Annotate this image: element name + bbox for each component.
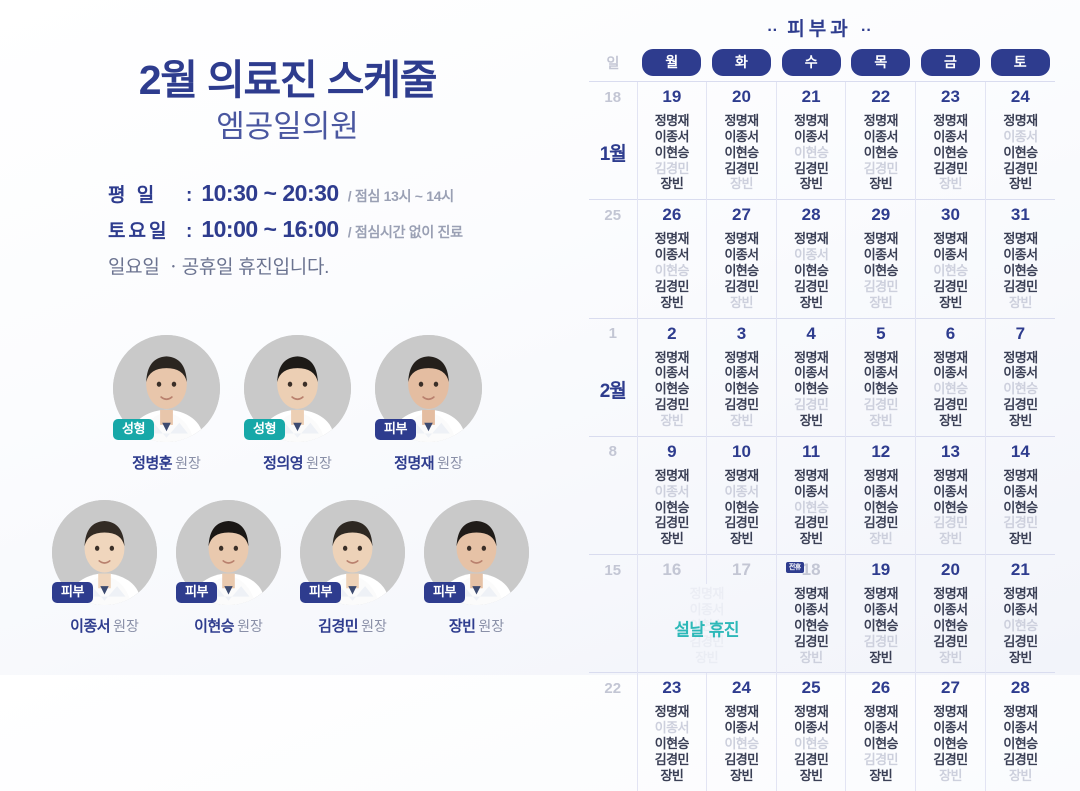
staff-name-on-duty: 이종서	[638, 247, 707, 263]
staff-name-on-duty: 정명재	[638, 231, 707, 247]
date-cell[interactable]: 19	[637, 82, 707, 112]
weekday-cell: 목	[846, 47, 916, 82]
date-cell[interactable]: 13	[916, 436, 986, 466]
calendar-date-row: 25262728293031	[589, 200, 1055, 230]
staff-name-on-duty: 이종서	[916, 720, 985, 736]
date-cell[interactable]: 24	[707, 673, 777, 703]
date-number: 30	[941, 205, 960, 224]
staff-name-off-duty: 장빈	[986, 295, 1055, 311]
date-cell[interactable]: 26	[846, 673, 916, 703]
staff-cell[interactable]: 정명재이종서이현승김경민장빈	[707, 229, 777, 318]
weekday-pill: 화	[712, 49, 771, 76]
calendar-staff-row: 정명재이종서이현승김경민장빈설날 휴진정명재이종서이현승김경민장빈정명재이종서이…	[589, 584, 1055, 673]
staff-name-off-duty: 이현승	[777, 145, 846, 161]
staff-name-off-duty: 장빈	[638, 413, 707, 429]
staff-cell[interactable]: 정명재이종서이현승김경민장빈	[707, 348, 777, 437]
staff-name-on-duty: 김경민	[916, 397, 985, 413]
doctor-name: 이현승원장	[176, 615, 281, 636]
date-number: 6	[946, 324, 955, 343]
staff-name-list: 정명재이종서이현승김경민장빈	[777, 704, 846, 783]
staff-name-on-duty: 장빈	[638, 295, 707, 311]
date-cell[interactable]: 29	[846, 200, 916, 230]
staff-cell[interactable]: 정명재이종서이현승김경민장빈	[776, 702, 846, 790]
staff-name-list: 정명재이종서이현승김경민장빈	[707, 468, 776, 547]
date-cell[interactable]: 31	[985, 200, 1055, 230]
doctor-title: 원장	[437, 455, 463, 471]
hours-row-saturday: 토요일 : 10:00 ~ 16:00 / 점심시간 없이 진료	[108, 216, 575, 243]
date-number: 28	[802, 205, 821, 224]
staff-name-on-duty: 장빈	[707, 768, 776, 784]
info-panel: 2월 의료진 스케줄 엠공일의원 평 일 : 10:30 ~ 20:30 / 점…	[0, 0, 575, 675]
staff-name-off-duty: 이현승	[916, 263, 985, 279]
doctor-card[interactable]: 피부김경민원장	[300, 500, 405, 636]
staff-name-off-duty: 김경민	[846, 634, 915, 650]
staff-name-list: 정명재이종서이현승김경민장빈	[777, 113, 846, 192]
staff-name-off-duty: 이종서	[638, 720, 707, 736]
holiday-cell[interactable]: 정명재이종서이현승김경민장빈설날 휴진	[637, 584, 776, 673]
staff-name-off-duty: 이현승	[986, 381, 1055, 397]
staff-name-on-duty: 이현승	[846, 145, 915, 161]
staff-name-on-duty: 정명재	[986, 586, 1055, 602]
weekday-cell: 수	[776, 47, 846, 82]
staff-name-on-duty: 장빈	[638, 531, 707, 547]
doctor-name: 장빈원장	[424, 615, 529, 636]
date-number: 12	[871, 442, 890, 461]
date-cell[interactable]: 30	[916, 200, 986, 230]
date-cell[interactable]: 19	[846, 555, 916, 585]
hours-row-weekday: 평 일 : 10:30 ~ 20:30 / 점심 13시 ~ 14시	[108, 180, 575, 207]
date-cell[interactable]: 24	[985, 82, 1055, 112]
weekday-time: 10:30 ~ 20:30	[201, 180, 338, 207]
doctor-card[interactable]: 피부정명재원장	[375, 335, 482, 473]
title-dots-right: ··	[861, 22, 872, 39]
staff-name-on-duty: 이종서	[986, 602, 1055, 618]
weekday-label: 평 일	[108, 180, 186, 207]
date-cell[interactable]: 22	[846, 82, 916, 112]
staff-name-on-duty: 정명재	[986, 350, 1055, 366]
staff-name-on-duty: 이현승	[638, 381, 707, 397]
staff-name-on-duty: 정명재	[638, 468, 707, 484]
date-cell[interactable]: 28	[776, 200, 846, 230]
date-number: 5	[876, 324, 885, 343]
staff-cell[interactable]: 정명재이종서이현승김경민장빈	[846, 584, 916, 673]
doctor-name-text: 장빈	[449, 618, 476, 635]
staff-cell[interactable]: 정명재이종서이현승김경민장빈	[776, 584, 846, 673]
doctor-name-text: 김경민	[318, 618, 358, 635]
staff-name-off-duty: 이현승	[707, 736, 776, 752]
avatar: 피부	[300, 500, 405, 605]
date-cell[interactable]: 11	[776, 436, 846, 466]
staff-name-on-duty: 김경민	[777, 161, 846, 177]
staff-name-on-duty: 장빈	[986, 531, 1055, 547]
date-cell[interactable]: 7	[985, 318, 1055, 348]
date-cell[interactable]: 전휴18	[776, 555, 846, 585]
specialty-badge: 피부	[424, 582, 465, 603]
staff-cell[interactable]: 정명재이종서이현승김경민장빈	[637, 702, 707, 790]
staff-name-list: 정명재이종서이현승김경민장빈	[846, 468, 915, 547]
staff-cell[interactable]: 정명재이종서이현승김경민장빈	[637, 111, 707, 200]
date-cell[interactable]: 3	[707, 318, 777, 348]
staff-name-on-duty: 이종서	[638, 365, 707, 381]
staff-name-on-duty: 정명재	[707, 704, 776, 720]
staff-cell[interactable]: 정명재이종서이현승김경민장빈	[846, 111, 916, 200]
doctor-card[interactable]: 성형정의영원장	[244, 335, 351, 473]
staff-name-on-duty: 정명재	[777, 704, 846, 720]
staff-cell[interactable]: 정명재이종서이현승김경민장빈	[916, 584, 986, 673]
staff-name-on-duty: 정명재	[916, 231, 985, 247]
staff-name-on-duty: 정명재	[777, 231, 846, 247]
staff-name-list: 정명재이종서이현승김경민장빈	[916, 113, 985, 192]
avatar: 성형	[113, 335, 220, 442]
staff-cell[interactable]: 정명재이종서이현승김경민장빈	[776, 229, 846, 318]
staff-name-on-duty: 정명재	[846, 586, 915, 602]
staff-name-on-duty: 김경민	[916, 161, 985, 177]
date-cell[interactable]: 23	[637, 673, 707, 703]
staff-name-off-duty: 김경민	[638, 161, 707, 177]
staff-cell[interactable]: 정명재이종서이현승김경민장빈	[707, 111, 777, 200]
staff-name-on-duty: 이현승	[638, 500, 707, 516]
staff-name-on-duty: 정명재	[846, 113, 915, 129]
date-cell[interactable]: 12	[846, 436, 916, 466]
date-number: 2	[667, 324, 676, 343]
date-number: 22	[871, 87, 890, 106]
staff-name-list: 정명재이종서이현승김경민장빈	[986, 586, 1055, 665]
date-cell-sunday: 22	[589, 673, 637, 703]
weekday-header-row: 일월화수목금토	[589, 47, 1055, 82]
page-title: 2월 의료진 스케줄	[0, 58, 575, 102]
staff-name-on-duty: 정명재	[986, 113, 1055, 129]
date-number: 24	[1011, 87, 1030, 106]
staff-cell[interactable]: 정명재이종서이현승김경민장빈	[916, 229, 986, 318]
staff-name-off-duty: 장빈	[916, 650, 985, 666]
staff-cell[interactable]: 정명재이종서이현승김경민장빈	[637, 348, 707, 437]
calendar-head: 일월화수목금토	[589, 47, 1055, 82]
staff-name-off-duty: 김경민	[916, 515, 985, 531]
date-cell[interactable]: 27	[916, 673, 986, 703]
date-cell-sunday: 8	[589, 436, 637, 466]
staff-name-on-duty: 장빈	[777, 531, 846, 547]
staff-name-off-duty: 김경민	[777, 397, 846, 413]
staff-name-on-duty: 이종서	[986, 365, 1055, 381]
staff-name-list: 정명재이종서이현승김경민장빈	[638, 350, 707, 429]
doctor-card[interactable]: 피부이현승원장	[176, 500, 281, 636]
staff-name-on-duty: 이현승	[846, 500, 915, 516]
date-cell[interactable]: 9	[637, 436, 707, 466]
staff-name-on-duty: 이현승	[986, 736, 1055, 752]
doctor-title: 원장	[175, 455, 201, 471]
date-cell[interactable]: 23	[916, 82, 986, 112]
weekday-pill: 월	[642, 49, 701, 76]
month-label-cell	[589, 702, 637, 790]
staff-name-list: 정명재이종서이현승김경민장빈	[638, 231, 707, 310]
staff-name-on-duty: 이현승	[707, 145, 776, 161]
doctor-title: 원장	[361, 618, 387, 634]
staff-name-on-duty: 이종서	[846, 484, 915, 500]
staff-cell[interactable]: 정명재이종서이현승김경민장빈	[846, 348, 916, 437]
weekday-lunch-note: / 점심 13시 ~ 14시	[348, 186, 454, 206]
date-number: 16	[662, 560, 681, 579]
staff-name-on-duty: 김경민	[777, 279, 846, 295]
staff-name-off-duty: 이현승	[916, 381, 985, 397]
date-cell-sunday: 25	[589, 200, 637, 230]
staff-name-on-duty: 정명재	[707, 113, 776, 129]
staff-name-on-duty: 김경민	[707, 397, 776, 413]
staff-name-list: 정명재이종서이현승김경민장빈	[916, 231, 985, 310]
staff-name-off-duty: 장빈	[916, 531, 985, 547]
doctor-card[interactable]: 피부장빈원장	[424, 500, 529, 636]
calendar-staff-row: 2월정명재이종서이현승김경민장빈정명재이종서이현승김경민장빈정명재이종서이현승김…	[589, 348, 1055, 437]
staff-name-on-duty: 김경민	[986, 161, 1055, 177]
date-number: 29	[871, 205, 890, 224]
doctor-name: 정의영원장	[244, 452, 351, 473]
date-number: 18	[802, 560, 821, 579]
staff-name-on-duty: 이종서	[638, 129, 707, 145]
staff-name-list: 정명재이종서이현승김경민장빈	[777, 586, 846, 665]
staff-name-on-duty: 김경민	[707, 161, 776, 177]
staff-cell[interactable]: 정명재이종서이현승김경민장빈	[985, 348, 1055, 437]
staff-name-off-duty: 장빈	[986, 768, 1055, 784]
weekday-pill: 수	[782, 49, 841, 76]
staff-name-off-duty: 장빈	[846, 531, 915, 547]
date-cell[interactable]: 25	[776, 673, 846, 703]
date-number: 21	[802, 87, 821, 106]
calendar-department: 피부과	[787, 19, 851, 40]
date-number: 28	[1011, 678, 1030, 697]
date-number: 26	[871, 678, 890, 697]
staff-cell[interactable]: 정명재이종서이현승김경민장빈	[846, 466, 916, 555]
staff-name-on-duty: 이종서	[846, 247, 915, 263]
doctor-title: 원장	[478, 618, 504, 634]
saturday-colon: :	[186, 221, 192, 243]
specialty-badge: 피부	[375, 419, 416, 440]
staff-name-on-duty: 장빈	[638, 768, 707, 784]
date-number: 25	[802, 678, 821, 697]
closed-note: 일요일 ㆍ공휴일 휴진입니다.	[108, 252, 329, 279]
weekday-cell: 화	[707, 47, 777, 82]
staff-name-list: 정명재이종서이현승김경민장빈	[638, 704, 707, 783]
date-cell[interactable]: 16	[637, 555, 707, 585]
staff-cell[interactable]: 정명재이종서이현승김경민장빈	[916, 702, 986, 790]
staff-name-on-duty: 정명재	[707, 468, 776, 484]
staff-cell[interactable]: 정명재이종서이현승김경민장빈	[776, 466, 846, 555]
staff-name-on-duty: 정명재	[916, 113, 985, 129]
staff-name-on-duty: 정명재	[916, 586, 985, 602]
staff-name-on-duty: 이현승	[916, 736, 985, 752]
staff-name-list: 정명재이종서이현승김경민장빈	[707, 231, 776, 310]
calendar-date-row: 22232425262728	[589, 673, 1055, 703]
staff-name-off-duty: 장빈	[707, 413, 776, 429]
date-cell[interactable]: 17	[707, 555, 777, 585]
doctor-name: 이종서원장	[52, 615, 157, 636]
closed-badge-icon: 전휴	[786, 562, 804, 573]
staff-cell[interactable]: 정명재이종서이현승김경민장빈	[707, 466, 777, 555]
staff-name-on-duty: 장빈	[777, 768, 846, 784]
weekday-pill: 목	[851, 49, 910, 76]
date-number: 19	[662, 87, 681, 106]
staff-cell[interactable]: 정명재이종서이현승김경민장빈	[637, 229, 707, 318]
staff-name-on-duty: 정명재	[846, 468, 915, 484]
staff-name-on-duty: 김경민	[707, 515, 776, 531]
weekday-pill: 금	[921, 49, 980, 76]
weekday-cell: 금	[916, 47, 986, 82]
staff-name-on-duty: 이현승	[707, 381, 776, 397]
staff-name-on-duty: 김경민	[777, 752, 846, 768]
date-cell[interactable]: 10	[707, 436, 777, 466]
date-number: 11	[802, 442, 820, 461]
avatar: 피부	[52, 500, 157, 605]
date-cell[interactable]: 14	[985, 436, 1055, 466]
staff-name-on-duty: 정명재	[707, 350, 776, 366]
staff-cell[interactable]: 정명재이종서이현승김경민장빈	[985, 111, 1055, 200]
doctor-name-text: 정명재	[394, 455, 434, 472]
staff-cell[interactable]: 정명재이종서이현승김경민장빈	[916, 111, 986, 200]
staff-cell[interactable]: 정명재이종서이현승김경민장빈	[776, 111, 846, 200]
saturday-label: 토요일	[108, 216, 186, 243]
staff-name-on-duty: 장빈	[777, 176, 846, 192]
staff-name-on-duty: 장빈	[916, 295, 985, 311]
date-cell[interactable]: 28	[985, 673, 1055, 703]
calendar-staff-row: 정명재이종서이현승김경민장빈정명재이종서이현승김경민장빈정명재이종서이현승김경민…	[589, 229, 1055, 318]
date-cell[interactable]: 5	[846, 318, 916, 348]
staff-name-on-duty: 정명재	[638, 350, 707, 366]
staff-name-on-duty: 김경민	[777, 634, 846, 650]
date-number: 27	[941, 678, 960, 697]
date-number: 26	[662, 205, 681, 224]
staff-name-on-duty: 정명재	[638, 704, 707, 720]
staff-name-off-duty: 김경민	[846, 752, 915, 768]
schedule-poster: 2월 의료진 스케줄 엠공일의원 평 일 : 10:30 ~ 20:30 / 점…	[0, 0, 1080, 675]
staff-name-list: 정명재이종서이현승김경민장빈	[986, 113, 1055, 192]
date-cell[interactable]: 20	[707, 82, 777, 112]
date-cell-sunday: 18	[589, 82, 637, 112]
date-number: 7	[1016, 324, 1025, 343]
staff-name-on-duty: 이종서	[846, 602, 915, 618]
specialty-badge: 성형	[113, 419, 154, 440]
staff-name-on-duty: 이현승	[777, 381, 846, 397]
staff-name-on-duty: 정명재	[777, 350, 846, 366]
date-cell[interactable]: 20	[916, 555, 986, 585]
staff-name-on-duty: 장빈	[986, 176, 1055, 192]
date-cell[interactable]: 21	[776, 82, 846, 112]
staff-name-on-duty: 이종서	[846, 365, 915, 381]
doctor-title: 원장	[113, 618, 139, 634]
staff-name-off-duty: 이종서	[707, 484, 776, 500]
doctor-name-text: 정병훈	[132, 455, 172, 472]
staff-name-on-duty: 장빈	[638, 176, 707, 192]
staff-name-on-duty: 김경민	[986, 634, 1055, 650]
date-cell[interactable]: 27	[707, 200, 777, 230]
staff-name-on-duty: 이현승	[986, 263, 1055, 279]
date-cell[interactable]: 21	[985, 555, 1055, 585]
weekday-colon: :	[186, 185, 192, 207]
staff-name-off-duty: 김경민	[846, 279, 915, 295]
calendar-date-row: 18192021222324	[589, 82, 1055, 112]
date-cell[interactable]: 26	[637, 200, 707, 230]
month-label-cell	[589, 584, 637, 673]
staff-name-on-duty: 이종서	[916, 129, 985, 145]
staff-name-list: 정명재이종서이현승김경민장빈	[846, 231, 915, 310]
staff-cell[interactable]: 정명재이종서이현승김경민장빈	[985, 466, 1055, 555]
staff-name-off-duty: 장빈	[846, 413, 915, 429]
staff-name-on-duty: 정명재	[916, 704, 985, 720]
saturday-time: 10:00 ~ 16:00	[201, 216, 338, 243]
staff-name-on-duty: 이현승	[707, 500, 776, 516]
staff-name-on-duty: 이현승	[707, 263, 776, 279]
staff-name-list: 정명재이종서이현승김경민장빈	[707, 113, 776, 192]
staff-cell[interactable]: 정명재이종서이현승김경민장빈	[707, 702, 777, 790]
date-number: 3	[737, 324, 746, 343]
calendar-date-row: 151617전휴18192021	[589, 555, 1055, 585]
doctor-card[interactable]: 피부이종서원장	[52, 500, 157, 636]
staff-cell[interactable]: 정명재이종서이현승김경민장빈	[916, 348, 986, 437]
staff-name-off-duty: 이현승	[777, 736, 846, 752]
staff-name-on-duty: 이종서	[986, 484, 1055, 500]
staff-name-on-duty: 이종서	[707, 720, 776, 736]
staff-cell[interactable]: 정명재이종서이현승김경민장빈	[985, 584, 1055, 673]
staff-cell[interactable]: 정명재이종서이현승김경민장빈	[985, 702, 1055, 790]
staff-name-off-duty: 장빈	[846, 295, 915, 311]
staff-name-list: 정명재이종서이현승김경민장빈	[916, 704, 985, 783]
title-block: 2월 의료진 스케줄 엠공일의원	[0, 0, 575, 148]
staff-name-list: 정명재이종서이현승김경민장빈	[638, 113, 707, 192]
hours-row-closed: 일요일 ㆍ공휴일 휴진입니다.	[108, 252, 575, 279]
staff-name-on-duty: 정명재	[846, 231, 915, 247]
staff-name-on-duty: 이현승	[916, 500, 985, 516]
staff-cell[interactable]: 정명재이종서이현승김경민장빈	[846, 229, 916, 318]
staff-name-list: 정명재이종서이현승김경민장빈	[986, 704, 1055, 783]
doctor-name: 김경민원장	[300, 615, 405, 636]
calendar-staff-row: 정명재이종서이현승김경민장빈정명재이종서이현승김경민장빈정명재이종서이현승김경민…	[589, 702, 1055, 790]
staff-cell[interactable]: 정명재이종서이현승김경민장빈	[916, 466, 986, 555]
doctor-card[interactable]: 성형정병훈원장	[113, 335, 220, 473]
date-number: 23	[941, 87, 960, 106]
date-cell[interactable]: 2	[637, 318, 707, 348]
staff-cell[interactable]: 정명재이종서이현승김경민장빈	[846, 702, 916, 790]
date-cell[interactable]: 6	[916, 318, 986, 348]
date-cell-sunday: 15	[589, 555, 637, 585]
staff-name-on-duty: 정명재	[846, 350, 915, 366]
staff-cell[interactable]: 정명재이종서이현승김경민장빈	[637, 466, 707, 555]
staff-cell[interactable]: 정명재이종서이현승김경민장빈	[985, 229, 1055, 318]
staff-name-on-duty: 이종서	[777, 602, 846, 618]
schedule-calendar: 일월화수목금토 181920212223241월정명재이종서이현승김경민장빈정명…	[589, 47, 1055, 791]
month-label-cell	[589, 229, 637, 318]
staff-name-on-duty: 장빈	[707, 531, 776, 547]
weekday-pill: 토	[991, 49, 1050, 76]
staff-name-on-duty: 이현승	[638, 736, 707, 752]
staff-name-on-duty: 이종서	[916, 365, 985, 381]
staff-name-off-duty: 장빈	[707, 176, 776, 192]
staff-name-on-duty: 이현승	[846, 381, 915, 397]
weekday-sunday: 일	[589, 47, 637, 82]
staff-name-off-duty: 이종서	[638, 484, 707, 500]
staff-name-off-duty: 김경민	[986, 515, 1055, 531]
staff-name-on-duty: 장빈	[846, 768, 915, 784]
staff-name-on-duty: 장빈	[777, 295, 846, 311]
doctor-title: 원장	[306, 455, 332, 471]
staff-name-on-duty: 이종서	[707, 129, 776, 145]
staff-name-on-duty: 이종서	[846, 720, 915, 736]
staff-name-on-duty: 정명재	[777, 113, 846, 129]
date-number: 21	[1011, 560, 1030, 579]
date-number: 14	[1011, 442, 1030, 461]
doctor-name-text: 정의영	[263, 455, 303, 472]
date-cell[interactable]: 4	[776, 318, 846, 348]
staff-name-off-duty: 장빈	[916, 768, 985, 784]
staff-name-on-duty: 이종서	[707, 247, 776, 263]
staff-cell[interactable]: 정명재이종서이현승김경민장빈	[776, 348, 846, 437]
staff-name-on-duty: 정명재	[916, 468, 985, 484]
